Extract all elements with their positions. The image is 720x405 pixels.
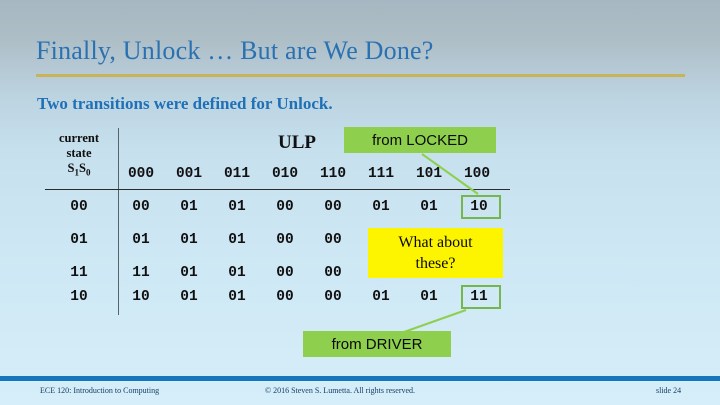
column-header: 111 [359, 166, 403, 182]
row-header-line2: state [67, 146, 92, 160]
column-header: 101 [407, 166, 451, 182]
highlight-box-driver-cell [461, 285, 501, 309]
column-header: 010 [263, 166, 307, 182]
row-label: 00 [45, 199, 113, 215]
table-cell: 00 [263, 289, 307, 305]
footer: ECE 120: Introduction to Computing © 201… [0, 386, 720, 400]
footer-course: ECE 120: Introduction to Computing [40, 386, 159, 395]
callout-what-about-these: What about these? [368, 228, 503, 278]
table-cell: 01 [167, 265, 211, 281]
table-cell: 00 [311, 199, 355, 215]
row-header-line1: current [59, 131, 99, 145]
column-header: 011 [215, 166, 259, 182]
table-cell: 01 [215, 289, 259, 305]
ulp-group-label: ULP [278, 132, 316, 154]
row-label: 01 [45, 232, 113, 248]
table-cell: 00 [119, 199, 163, 215]
row-label: 11 [45, 265, 113, 281]
table-cell: 00 [311, 232, 355, 248]
table-cell: 00 [311, 265, 355, 281]
row-header-state-vars: S1S0 [68, 161, 91, 175]
table-vertical-divider [118, 128, 119, 315]
callout-from-locked: from LOCKED [344, 127, 496, 153]
table-cell: 01 [407, 289, 451, 305]
table-cell: 10 [119, 289, 163, 305]
footer-slide-number: slide 24 [656, 386, 681, 395]
column-header: 000 [119, 166, 163, 182]
callout-from-driver: from DRIVER [303, 331, 451, 357]
column-header: 110 [311, 166, 355, 182]
footer-copyright: © 2016 Steven S. Lumetta. All rights res… [265, 386, 415, 395]
column-header: 001 [167, 166, 211, 182]
table-cell: 00 [263, 232, 307, 248]
table-cell: 00 [263, 265, 307, 281]
table-cell: 01 [359, 289, 403, 305]
callout-question-line2: these? [416, 253, 456, 274]
table-cell: 01 [407, 199, 451, 215]
table-cell: 01 [119, 232, 163, 248]
row-label: 10 [45, 289, 113, 305]
table-cell: 01 [359, 199, 403, 215]
footer-bar [0, 376, 720, 381]
table-cell: 01 [215, 265, 259, 281]
table-cell: 11 [119, 265, 163, 281]
table-cell: 01 [167, 199, 211, 215]
table-horizontal-divider [45, 189, 510, 190]
row-header-label: current state S1S0 [42, 131, 116, 181]
table-cell: 01 [167, 289, 211, 305]
callout-question-line1: What about [398, 232, 472, 253]
table-cell: 00 [311, 289, 355, 305]
highlight-box-locked-cell [461, 195, 501, 219]
table-cell: 01 [215, 232, 259, 248]
table-cell: 01 [215, 199, 259, 215]
slide-canvas: Finally, Unlock … But are We Done? Two t… [0, 0, 720, 405]
table-cell: 00 [263, 199, 307, 215]
column-header: 100 [455, 166, 499, 182]
table-cell: 01 [167, 232, 211, 248]
